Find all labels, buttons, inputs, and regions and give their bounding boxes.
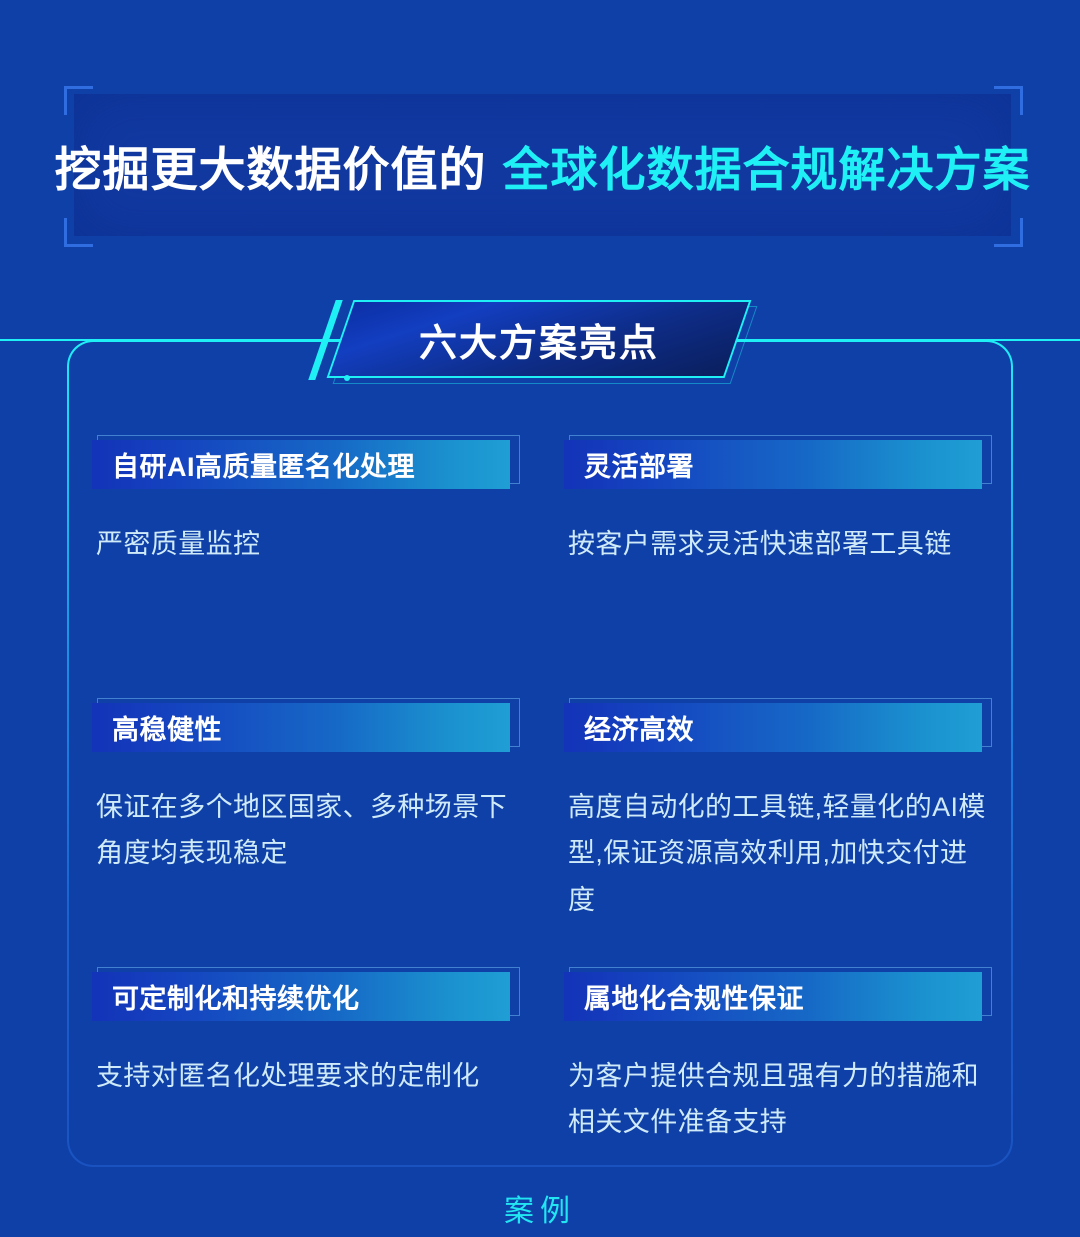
highlight-card[interactable]: 可定制化和持续优化 支持对匿名化处理要求的定制化	[92, 972, 520, 1173]
highlight-card-title: 经济高效	[584, 708, 694, 747]
highlight-card-title: 属地化合规性保证	[584, 977, 804, 1016]
highlight-card-body: 为客户提供合规且强有力的措施和相关文件准备支持	[564, 1053, 992, 1173]
footer-label: 案例	[0, 1186, 1080, 1230]
highlight-card-body: 支持对匿名化处理要求的定制化	[92, 1053, 520, 1173]
section-banner-rule-right	[716, 339, 1080, 341]
highlight-card-header: 高稳健性	[92, 703, 520, 752]
highlight-card[interactable]: 属地化合规性保证 为客户提供合规且强有力的措施和相关文件准备支持	[564, 972, 992, 1173]
highlight-card-header-bar: 灵活部署	[564, 440, 982, 489]
highlight-card-header: 属地化合规性保证	[564, 972, 992, 1021]
highlight-card[interactable]: 灵活部署 按客户需求灵活快速部署工具链	[564, 440, 992, 641]
highlight-card-body: 严密质量监控	[92, 521, 520, 641]
section-banner-label: 六大方案亮点	[340, 300, 738, 378]
highlight-card[interactable]: 自研AI高质量匿名化处理 严密质量监控	[92, 440, 520, 641]
page-title-highlight: 全球化数据合规解决方案	[503, 131, 1031, 200]
highlight-card-body: 高度自动化的工具链,轻量化的AI模型,保证资源高效利用,加快交付进度	[564, 784, 992, 934]
highlight-card-title: 可定制化和持续优化	[112, 977, 360, 1016]
section-banner: 六大方案亮点	[0, 292, 1080, 388]
highlight-card-header-bar: 经济高效	[564, 703, 982, 752]
header-banner: 挖掘更大数据价值的 全球化数据合规解决方案	[0, 86, 1080, 246]
highlight-card-body: 按客户需求灵活快速部署工具链	[564, 521, 992, 641]
highlight-card-header-bar: 属地化合规性保证	[564, 972, 982, 1021]
highlight-card-title: 灵活部署	[584, 445, 694, 484]
highlight-card-title: 自研AI高质量匿名化处理	[112, 445, 415, 484]
highlight-card-header-bar: 高稳健性	[92, 703, 510, 752]
highlight-card-header: 可定制化和持续优化	[92, 972, 520, 1021]
highlight-card-title: 高稳健性	[112, 708, 222, 747]
highlights-row: 自研AI高质量匿名化处理 严密质量监控 灵活部署 按客户需求灵活快速部署工具链	[92, 440, 992, 641]
highlight-card-header: 灵活部署	[564, 440, 992, 489]
page-title: 挖掘更大数据价值的 全球化数据合规解决方案	[74, 94, 1011, 236]
highlight-card[interactable]: 经济高效 高度自动化的工具链,轻量化的AI模型,保证资源高效利用,加快交付进度	[564, 703, 992, 934]
highlights-grid: 自研AI高质量匿名化处理 严密质量监控 灵活部署 按客户需求灵活快速部署工具链 …	[92, 440, 992, 1173]
page-title-prefix: 挖掘更大数据价值的	[55, 131, 487, 200]
highlight-card-header: 自研AI高质量匿名化处理	[92, 440, 520, 489]
highlight-card[interactable]: 高稳健性 保证在多个地区国家、多种场景下角度均表现稳定	[92, 703, 520, 934]
highlights-row: 可定制化和持续优化 支持对匿名化处理要求的定制化 属地化合规性保证 为客户提供合…	[92, 972, 992, 1173]
highlight-card-body: 保证在多个地区国家、多种场景下角度均表现稳定	[92, 784, 520, 934]
highlight-card-header-bar: 可定制化和持续优化	[92, 972, 510, 1021]
section-banner-rule-left	[0, 339, 346, 341]
highlights-row: 高稳健性 保证在多个地区国家、多种场景下角度均表现稳定 经济高效 高度自动化的工…	[92, 703, 992, 934]
highlight-card-header-bar: 自研AI高质量匿名化处理	[92, 440, 510, 489]
highlight-card-header: 经济高效	[564, 703, 992, 752]
